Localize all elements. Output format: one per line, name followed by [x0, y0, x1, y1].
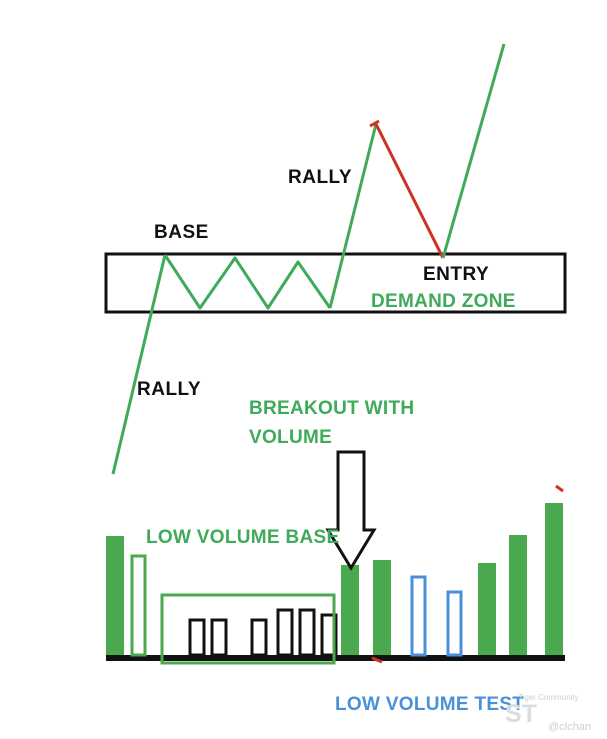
volume-bar-filled-13 — [478, 563, 496, 655]
volume-bar-outline-black-4 — [212, 620, 226, 655]
volume-bar-filled-15 — [545, 503, 563, 655]
volume-bar-filled-10 — [373, 560, 391, 655]
label-entry: ENTRY — [423, 264, 489, 286]
volume-bar-breakout-9 — [341, 565, 359, 655]
price-line-base-zigzag — [165, 255, 330, 308]
price-line-rally-lower — [113, 255, 165, 474]
volume-bar-outline-black-7 — [300, 610, 314, 655]
label-demand-zone: DEMAND ZONE — [371, 291, 516, 313]
label-low-volume-test: LOW VOLUME TEST — [335, 694, 524, 716]
volume-bar-filled-1 — [106, 536, 124, 655]
volume-bar-outline-black-3 — [190, 620, 204, 655]
label-low-volume-base: LOW VOLUME BASE — [146, 527, 339, 549]
label-breakout-line1: BREAKOUT WITH — [249, 398, 414, 420]
volume-bar-outline-blue-12 — [448, 592, 461, 655]
breakout-down-arrow-icon — [328, 452, 374, 568]
diagram-svg — [0, 0, 607, 739]
watermark-logo: ST — [505, 700, 537, 729]
label-breakout-line2: VOLUME — [249, 427, 332, 449]
volume-bar-outline-black-6 — [278, 610, 292, 655]
label-rally-top: RALLY — [288, 167, 352, 189]
diagram-canvas: BASE RALLY ENTRY DEMAND ZONE RALLY BREAK… — [0, 0, 607, 739]
volume-bar-outline-blue-11 — [412, 577, 425, 655]
low-volume-base-box — [162, 595, 334, 663]
price-line-final-rally — [443, 44, 504, 258]
volume-mark-red-top — [556, 486, 563, 491]
price-line-rally-upper — [330, 124, 376, 308]
label-base: BASE — [154, 222, 209, 244]
volume-bar-outline-green-2 — [132, 556, 145, 655]
watermark-handle: @clchan — [548, 721, 591, 733]
label-rally-bottom: RALLY — [137, 379, 201, 401]
price-line-pullback — [376, 124, 443, 258]
volume-bar-filled-14 — [509, 535, 527, 655]
volume-bar-outline-black-5 — [252, 620, 266, 655]
